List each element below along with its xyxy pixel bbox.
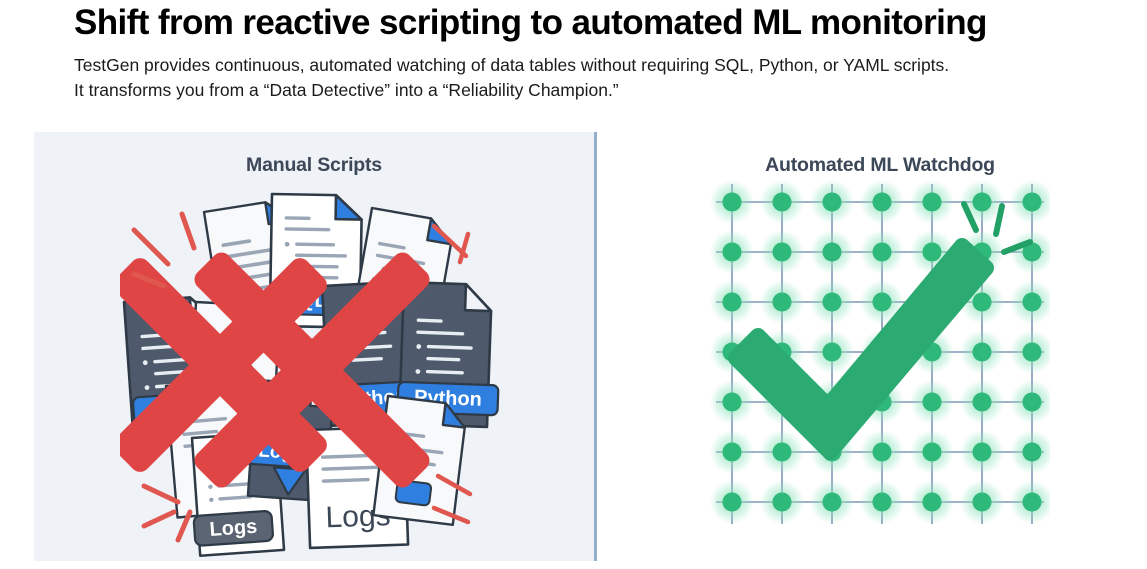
subtitle-line-1: TestGen provides continuous, automated w… <box>74 53 1094 78</box>
panel-title-automated: Automated ML Watchdog <box>630 154 1130 177</box>
badge-logs: Logs <box>193 511 273 546</box>
subtitle-line-2: It transforms you from a “Data Detective… <box>74 78 1094 103</box>
panel-automated-watchdog: Automated ML Watchdog <box>630 132 1130 561</box>
svg-text:Logs: Logs <box>209 516 258 541</box>
header-block: Shift from reactive scripting to automat… <box>74 0 1094 103</box>
panel-manual-scripts: Manual Scripts <box>34 132 597 561</box>
page-subtitle: TestGen provides continuous, automated w… <box>74 53 1094 103</box>
automated-watchdog-illustration <box>710 180 1050 530</box>
manual-scripts-illustration: SQL <box>120 190 520 560</box>
comparison-panels: Manual Scripts <box>0 132 1147 569</box>
impact-spark-lines <box>134 214 194 286</box>
panel-title-manual: Manual Scripts <box>34 154 594 177</box>
page-title: Shift from reactive scripting to automat… <box>74 0 1094 46</box>
